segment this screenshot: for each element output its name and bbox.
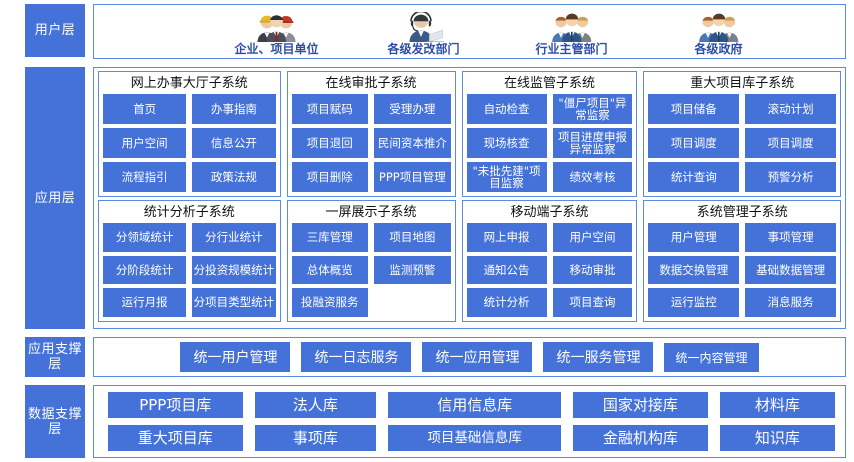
subsystem-cell[interactable]: 项目赋码 (292, 94, 369, 124)
layer-label-user: 用户层 (25, 4, 85, 57)
data-chip[interactable]: 国家对接库 (573, 392, 708, 418)
data-chip[interactable]: 事项库 (255, 425, 377, 451)
subsystem-cell[interactable]: 项目查询 (553, 288, 633, 317)
subsystem-online-supervision[interactable]: 在线监管子系统 自动检查 "僵尸项目"异常监察 现场核查 项目进度申报异常监察 … (462, 71, 638, 197)
support-chip[interactable]: 统一用户管理 (180, 342, 290, 372)
user-layer-row: 用户层 (0, 0, 854, 63)
architecture-diagram: 用户层 (0, 0, 854, 452)
subsystem-title: 移动端子系统 (467, 203, 633, 223)
data-chip[interactable]: 项目基础信息库 (388, 425, 561, 451)
support-chip[interactable]: 统一应用管理 (422, 342, 532, 372)
subsystem-cell[interactable]: 移动审批 (553, 256, 633, 285)
subsystem-cell[interactable]: 总体概览 (292, 256, 369, 285)
subsystem-cell[interactable]: 项目删除 (292, 162, 369, 192)
subsystem-cell[interactable]: 用户空间 (103, 128, 186, 158)
subsystem-cell[interactable]: "未批先建"项目监察 (467, 162, 547, 192)
data-chip-grid: PPP项目库 法人库 信用信息库 国家对接库 材料库 重大项目库 事项库 项目基… (94, 386, 845, 458)
subsystem-cell[interactable]: 通知公告 (467, 256, 547, 285)
user-actor-label: 行业主管部门 (535, 42, 607, 56)
subsystem-cell[interactable]: 流程指引 (103, 162, 186, 192)
subsystem-major-project-library[interactable]: 重大项目库子系统 项目储备 滚动计划 项目调度 项目调度 统计查询 预警分析 (643, 71, 841, 197)
subsystem-cell[interactable]: 项目退回 (292, 128, 369, 158)
subsystem-cell[interactable]: 网上申报 (467, 223, 547, 252)
subsystem-cell[interactable]: 基础数据管理 (745, 256, 836, 285)
subsystem-cell[interactable]: 运行月报 (103, 288, 186, 317)
subsystem-title: 统计分析子系统 (103, 203, 276, 223)
subsystem-cells: 用户管理 事项管理 数据交换管理 基础数据管理 运行监控 消息服务 (648, 223, 836, 317)
subsystem-cell[interactable]: 投融资服务 (292, 288, 369, 317)
person-laptop-headset-icon (402, 12, 446, 42)
subsystem-system-management[interactable]: 系统管理子系统 用户管理 事项管理 数据交换管理 基础数据管理 运行监控 消息服… (643, 200, 841, 322)
subsystem-cell[interactable]: 首页 (103, 94, 186, 124)
data-chip[interactable]: 知识库 (720, 425, 835, 451)
subsystem-cell[interactable]: 预警分析 (745, 162, 836, 192)
subsystem-cell[interactable]: 监测预警 (374, 256, 451, 285)
application-layer-body: 网上办事大厅子系统 首页 办事指南 用户空间 信息公开 流程指引 政策法规 在线… (93, 67, 846, 329)
subsystem-cell[interactable]: 分投资规模统计 (192, 256, 275, 285)
user-actor-government[interactable]: 各级政府 (661, 12, 776, 56)
subsystem-row-2: 统计分析子系统 分领域统计 分行业统计 分阶段统计 分投资规模统计 运行月报 分… (98, 200, 841, 322)
subsystem-cell[interactable]: 现场核查 (467, 128, 547, 158)
subsystem-title: 网上办事大厅子系统 (103, 74, 276, 94)
user-actor-ndrc[interactable]: 各级发改部门 (366, 12, 481, 56)
subsystem-cell[interactable]: 事项管理 (745, 223, 836, 252)
subsystem-cells: 网上申报 用户空间 通知公告 移动审批 统计分析 项目查询 (467, 223, 633, 317)
subsystem-cell[interactable]: 民间资本推介 (374, 128, 451, 158)
subsystem-cell[interactable]: 滚动计划 (745, 94, 836, 124)
application-support-layer-row: 应用支撑层 统一用户管理 统一日志服务 统一应用管理 统一服务管理 统一内容管理 (0, 333, 854, 381)
subsystem-mobile-terminal[interactable]: 移动端子系统 网上申报 用户空间 通知公告 移动审批 统计分析 项目查询 (462, 200, 638, 322)
subsystem-cells: 三库管理 项目地图 总体概览 监测预警 投融资服务 (292, 223, 451, 317)
subsystem-one-screen-display[interactable]: 一屏展示子系统 三库管理 项目地图 总体概览 监测预警 投融资服务 (287, 200, 456, 322)
subsystem-cell[interactable]: 运行监控 (648, 288, 739, 317)
subsystem-cell[interactable]: 政策法规 (192, 162, 275, 192)
subsystem-cell[interactable]: 项目调度 (745, 128, 836, 158)
support-chip-strip: 统一用户管理 统一日志服务 统一应用管理 统一服务管理 统一内容管理 (94, 338, 845, 376)
support-chip[interactable]: 统一内容管理 (664, 343, 758, 372)
subsystem-cell[interactable]: 项目调度 (648, 128, 739, 158)
subsystem-row-1: 网上办事大厅子系统 首页 办事指南 用户空间 信息公开 流程指引 政策法规 在线… (98, 71, 841, 197)
subsystem-cells: 项目储备 滚动计划 项目调度 项目调度 统计查询 预警分析 (648, 94, 836, 192)
data-chip[interactable]: 重大项目库 (108, 425, 243, 451)
data-chip[interactable]: 材料库 (720, 392, 835, 418)
subsystem-cell[interactable]: "僵尸项目"异常监察 (553, 94, 633, 124)
group-hardhat-icon (255, 12, 299, 42)
subsystem-cell[interactable]: 信息公开 (192, 128, 275, 158)
data-chip[interactable]: 信用信息库 (388, 392, 561, 418)
subsystem-cell[interactable]: 统计分析 (467, 288, 547, 317)
subsystem-title: 系统管理子系统 (648, 203, 836, 223)
subsystem-cell[interactable]: 消息服务 (745, 288, 836, 317)
user-actor-label: 各级发改部门 (387, 42, 459, 56)
subsystem-cell[interactable]: 用户空间 (553, 223, 633, 252)
subsystem-cell[interactable]: 项目储备 (648, 94, 739, 124)
subsystem-cell[interactable]: 统计查询 (648, 162, 739, 192)
data-chip[interactable]: 金融机构库 (573, 425, 708, 451)
subsystem-cell[interactable]: 分项目类型统计 (192, 288, 275, 317)
data-chip[interactable]: 法人库 (255, 392, 377, 418)
user-actor-strip: 企业、项目单位 (94, 5, 845, 58)
user-actor-industry[interactable]: 行业主管部门 (514, 12, 629, 56)
subsystem-cells: 自动检查 "僵尸项目"异常监察 现场核查 项目进度申报异常监察 "未批先建"项目… (467, 94, 633, 192)
subsystem-cells: 分领域统计 分行业统计 分阶段统计 分投资规模统计 运行月报 分项目类型统计 (103, 223, 276, 317)
support-chip[interactable]: 统一日志服务 (301, 342, 411, 372)
user-layer-body: 企业、项目单位 (93, 4, 846, 59)
layer-label-data-support: 数据支撑层 (25, 385, 85, 458)
subsystem-cell[interactable]: 受理办理 (374, 94, 451, 124)
data-chip[interactable]: PPP项目库 (108, 392, 243, 418)
subsystem-title: 在线监管子系统 (467, 74, 633, 94)
subsystem-title: 重大项目库子系统 (648, 74, 836, 94)
subsystem-cell[interactable]: 自动检查 (467, 94, 547, 124)
application-layer-row: 应用层 网上办事大厅子系统 首页 办事指南 用户空间 信息公开 流程指引 政策法… (0, 63, 854, 333)
subsystem-cell[interactable]: 办事指南 (192, 94, 275, 124)
support-chip[interactable]: 统一服务管理 (543, 342, 653, 372)
subsystem-cell[interactable]: 数据交换管理 (648, 256, 739, 285)
subsystem-grid: 网上办事大厅子系统 首页 办事指南 用户空间 信息公开 流程指引 政策法规 在线… (94, 68, 845, 325)
subsystem-cells: 项目赋码 受理办理 项目退回 民间资本推介 项目删除 PPP项目管理 (292, 94, 451, 192)
subsystem-online-service-hall[interactable]: 网上办事大厅子系统 首页 办事指南 用户空间 信息公开 流程指引 政策法规 (98, 71, 281, 197)
subsystem-title: 一屏展示子系统 (292, 203, 451, 223)
subsystem-cell[interactable]: 项目进度申报异常监察 (553, 128, 633, 158)
subsystem-cells: 首页 办事指南 用户空间 信息公开 流程指引 政策法规 (103, 94, 276, 192)
user-actor-label: 各级政府 (694, 42, 742, 56)
application-support-body: 统一用户管理 统一日志服务 统一应用管理 统一服务管理 统一内容管理 (93, 337, 846, 377)
subsystem-online-approval[interactable]: 在线审批子系统 项目赋码 受理办理 项目退回 民间资本推介 项目删除 PPP项目… (287, 71, 456, 197)
subsystem-title: 在线审批子系统 (292, 74, 451, 94)
user-actor-enterprise[interactable]: 企业、项目单位 (219, 12, 334, 56)
subsystem-cell[interactable]: 项目地图 (374, 223, 451, 252)
subsystem-cell[interactable]: 用户管理 (648, 223, 739, 252)
user-actor-label: 企业、项目单位 (234, 42, 318, 56)
layer-label-application-support: 应用支撑层 (25, 337, 85, 377)
group-people-icon (550, 12, 594, 42)
subsystem-cell[interactable]: 分行业统计 (192, 223, 275, 252)
subsystem-cell[interactable]: 三库管理 (292, 223, 369, 252)
subsystem-cell[interactable]: 绩效考核 (553, 162, 633, 192)
subsystem-statistical-analysis[interactable]: 统计分析子系统 分领域统计 分行业统计 分阶段统计 分投资规模统计 运行月报 分… (98, 200, 281, 322)
group-people-icon (697, 12, 741, 42)
subsystem-cell[interactable]: 分阶段统计 (103, 256, 186, 285)
subsystem-cell-empty (374, 288, 451, 317)
subsystem-cell[interactable]: PPP项目管理 (374, 162, 451, 192)
data-support-body: PPP项目库 法人库 信用信息库 国家对接库 材料库 重大项目库 事项库 项目基… (93, 385, 846, 458)
data-support-layer-row: 数据支撑层 PPP项目库 法人库 信用信息库 国家对接库 材料库 重大项目库 事… (0, 381, 854, 462)
layer-label-application: 应用层 (25, 67, 85, 329)
subsystem-cell[interactable]: 分领域统计 (103, 223, 186, 252)
